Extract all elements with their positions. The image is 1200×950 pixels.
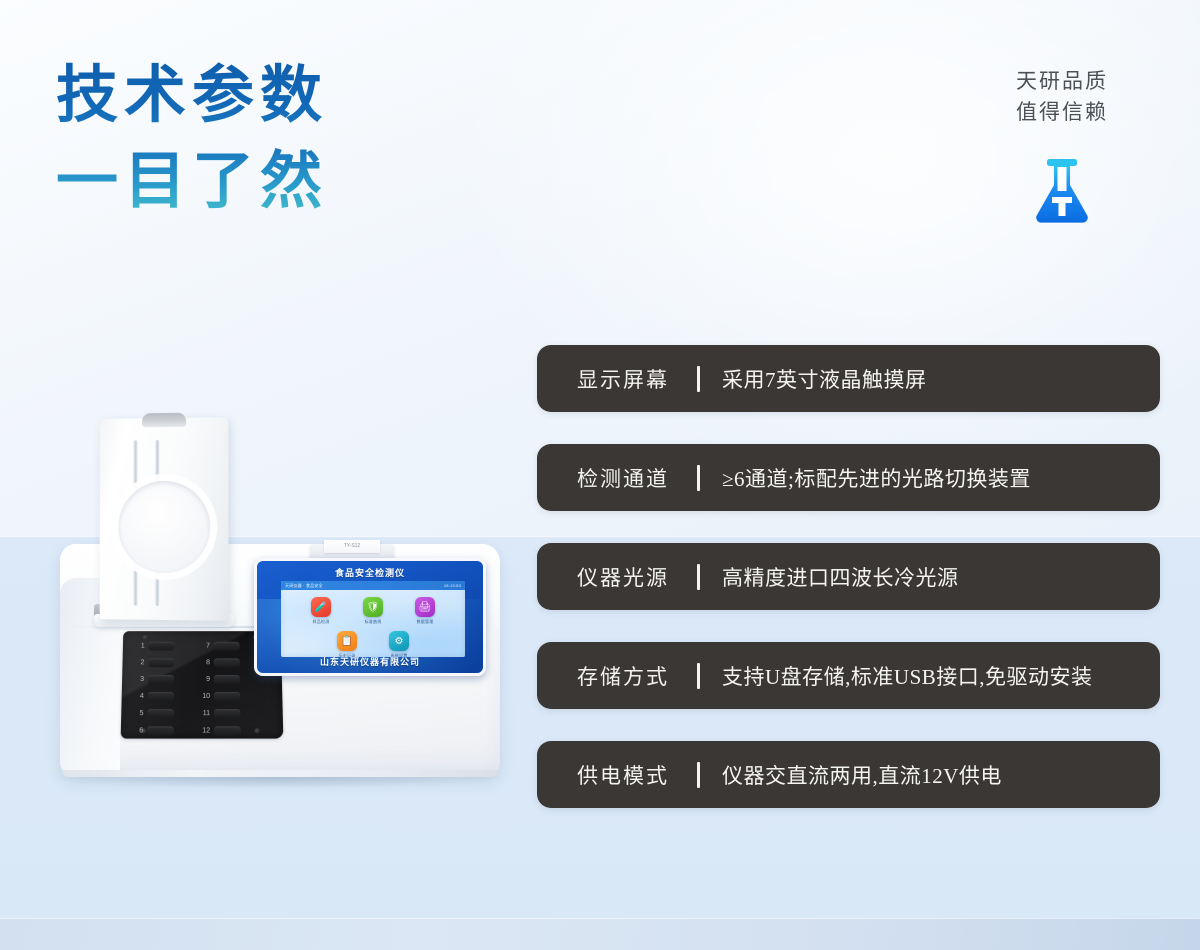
- standard-curve-icon[interactable]: 🛡: [363, 597, 383, 617]
- spec-row[interactable]: 存储方式 支持U盘存储,标准USB接口,免驱动安装: [537, 642, 1160, 709]
- well[interactable]: 7: [198, 639, 240, 654]
- well-column-left: 1 2 3 4 5 6: [131, 639, 175, 739]
- spec-value: 采用7英寸液晶触摸屏: [700, 364, 927, 394]
- flask-icon: [1030, 156, 1094, 226]
- sample-test-icon[interactable]: 🧪: [311, 597, 331, 617]
- brand-badge: 天研品质 值得信赖: [972, 66, 1152, 226]
- well[interactable]: 8: [198, 655, 240, 670]
- well-number: 5: [131, 710, 143, 717]
- instrument-display-panel[interactable]: 食品安全检测仪 山东天研仪器有限公司 天研仪器 · 食品安全 15:13:53 …: [254, 558, 486, 676]
- well[interactable]: 5: [131, 706, 174, 721]
- spec-value: ≥6通道;标配先进的光路切换装置: [700, 463, 1031, 493]
- well-slot[interactable]: [214, 726, 240, 735]
- well-number: 8: [198, 659, 210, 666]
- well[interactable]: 6: [131, 723, 174, 738]
- well-slot[interactable]: [148, 658, 174, 667]
- spec-row[interactable]: 仪器光源 高精度进口四波长冷光源: [537, 543, 1160, 610]
- spec-label: 供电模式: [537, 760, 697, 790]
- app-label: 样品检测: [302, 619, 340, 625]
- well-slot[interactable]: [214, 675, 240, 684]
- lid-tab[interactable]: [142, 413, 186, 428]
- background-floor: [0, 918, 1200, 950]
- instrument-photo: 1 2 3 4 5 6 7 8 9 10 11 12 T: [46, 418, 516, 800]
- spec-row[interactable]: 检测通道 ≥6通道;标配先进的光路切换装置: [537, 444, 1160, 511]
- brand-line2: 值得信赖: [972, 97, 1152, 128]
- panel-sticker: TY-S12: [324, 540, 380, 553]
- app-label: 历史记录: [328, 653, 366, 657]
- app-label: 标准曲线: [354, 619, 392, 625]
- page-title-line2: 一目了然: [56, 146, 486, 218]
- spec-label: 显示屏幕: [537, 364, 697, 394]
- well-number: 6: [131, 727, 143, 734]
- spec-row[interactable]: 供电模式 仪器交直流两用,直流12V供电: [537, 741, 1160, 808]
- spec-label: 仪器光源: [537, 562, 697, 592]
- app-tile[interactable]: ⚙ 系统设置: [380, 631, 418, 657]
- well-slot[interactable]: [214, 709, 240, 718]
- app-tile[interactable]: 🧪 样品检测: [302, 597, 340, 625]
- panel-title: 食品安全检测仪: [257, 566, 483, 579]
- spec-value: 支持U盘存储,标准USB接口,免驱动安装: [700, 661, 1093, 691]
- well-number: 7: [198, 643, 210, 650]
- well[interactable]: 3: [132, 672, 174, 687]
- device-foot: [62, 770, 498, 777]
- system-settings-icon[interactable]: ⚙: [389, 631, 409, 651]
- well-number: 4: [132, 693, 144, 700]
- well[interactable]: 4: [132, 689, 174, 704]
- well[interactable]: 10: [198, 689, 240, 704]
- well[interactable]: 12: [198, 723, 241, 738]
- page-title: 技术参数 一目了然: [56, 60, 486, 218]
- brand-line1: 天研品质: [972, 66, 1152, 97]
- spec-label: 检测通道: [537, 463, 697, 493]
- data-management-icon[interactable]: 🖨: [415, 597, 435, 617]
- app-label: 系统设置: [380, 653, 418, 657]
- well-number: 12: [198, 727, 210, 734]
- spec-value: 仪器交直流两用,直流12V供电: [700, 760, 1002, 790]
- spec-value: 高精度进口四波长冷光源: [700, 562, 959, 592]
- well-slot[interactable]: [148, 692, 174, 701]
- status-left-text: 天研仪器 · 食品安全: [285, 583, 323, 589]
- well-column-right: 7 8 9 10 11 12: [198, 639, 241, 739]
- well-number: 10: [198, 693, 210, 700]
- well-slot[interactable]: [147, 726, 173, 735]
- well-number: 2: [132, 659, 144, 666]
- well[interactable]: 9: [198, 672, 240, 687]
- well-slot[interactable]: [214, 642, 240, 651]
- spec-list: 显示屏幕 采用7英寸液晶触摸屏 检测通道 ≥6通道;标配先进的光路切换装置 仪器…: [537, 345, 1160, 808]
- well-slot[interactable]: [214, 692, 240, 701]
- well[interactable]: 1: [133, 639, 175, 654]
- well-number: 9: [198, 676, 210, 683]
- well-slot[interactable]: [149, 642, 175, 651]
- screen-status-bar: 天研仪器 · 食品安全 15:13:53: [281, 581, 465, 590]
- well-number: 1: [133, 643, 145, 650]
- tray-screw: [255, 728, 260, 733]
- status-right-time: 15:13:53: [444, 583, 461, 588]
- page-title-line1: 技术参数: [56, 60, 486, 132]
- instrument-lid[interactable]: [100, 417, 229, 621]
- app-grid: 🧪 样品检测 🛡 标准曲线 🖨 数据管理 📋 历史记录 ⚙ 系统设置: [281, 593, 465, 657]
- app-label: 数据管理: [406, 619, 444, 625]
- app-tile[interactable]: 🛡 标准曲线: [354, 597, 392, 625]
- history-records-icon[interactable]: 📋: [337, 631, 357, 651]
- spec-row[interactable]: 显示屏幕 采用7英寸液晶触摸屏: [537, 345, 1160, 412]
- well[interactable]: 11: [198, 706, 240, 721]
- well[interactable]: 2: [132, 655, 174, 670]
- touchscreen[interactable]: 天研仪器 · 食品安全 15:13:53 🧪 样品检测 🛡 标准曲线 🖨 数据管…: [281, 581, 465, 657]
- well-number: 11: [198, 710, 210, 717]
- well-slot[interactable]: [214, 658, 240, 667]
- spec-label: 存储方式: [537, 661, 697, 691]
- lid-circular-recess: [118, 481, 210, 574]
- well-number: 3: [132, 676, 144, 683]
- app-tile[interactable]: 📋 历史记录: [328, 631, 366, 657]
- well-slot[interactable]: [147, 709, 173, 718]
- app-tile[interactable]: 🖨 数据管理: [406, 597, 444, 625]
- well-slot[interactable]: [148, 675, 174, 684]
- lid-groove: [133, 440, 138, 488]
